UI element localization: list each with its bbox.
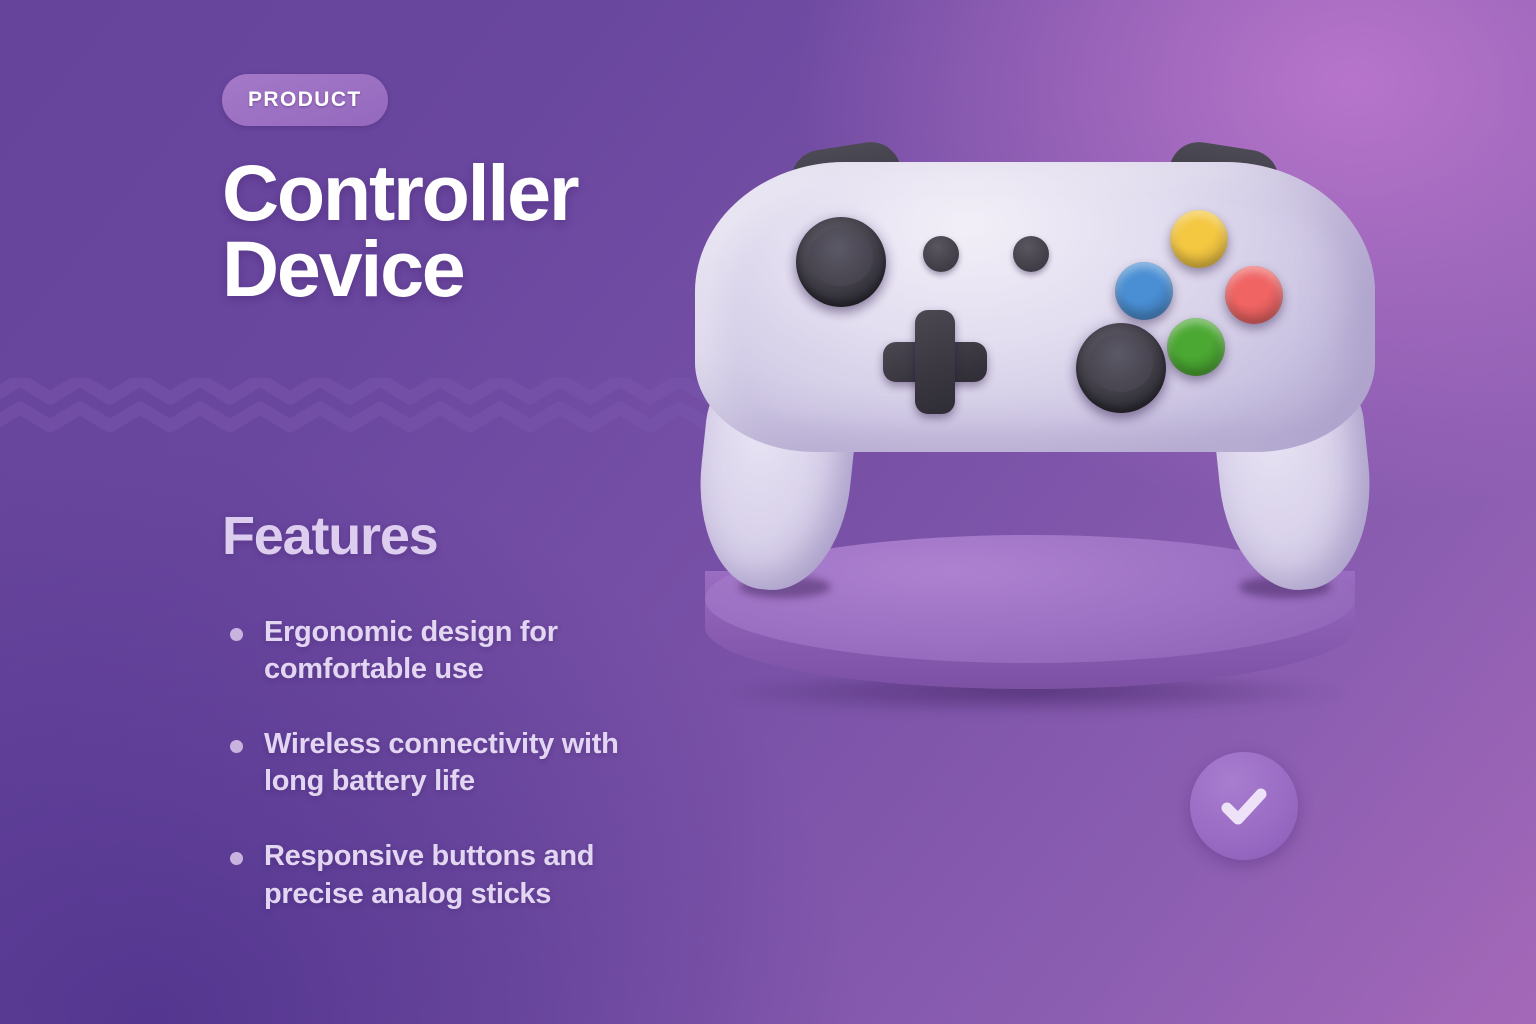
product-showcase-canvas: PRODUCT Controller Device Features Ergon… xyxy=(0,0,1536,1024)
left-analog-stick xyxy=(783,204,899,320)
page-title-line-2: Device xyxy=(222,231,682,307)
dpad-control xyxy=(883,310,987,414)
right-analog-stick-dish xyxy=(1089,334,1153,392)
left-analog-stick-dish xyxy=(809,228,873,286)
red-face-button xyxy=(1225,266,1283,324)
product-image-scene xyxy=(660,100,1420,740)
start-button xyxy=(1013,236,1049,272)
green-face-button xyxy=(1167,318,1225,376)
list-item: Wireless connectivity with long battery … xyxy=(222,726,672,800)
page-title: Controller Device xyxy=(222,155,682,307)
check-circle-icon xyxy=(1190,752,1298,860)
dpad-vertical-arm xyxy=(915,310,955,414)
select-button xyxy=(923,236,959,272)
left-analog-stick-cap xyxy=(796,217,886,307)
product-category-badge: PRODUCT xyxy=(222,74,388,126)
text-column: PRODUCT Controller Device Features Ergon… xyxy=(222,0,692,1024)
game-controller-illustration xyxy=(695,128,1375,598)
right-analog-stick xyxy=(1063,310,1179,426)
list-item: Ergonomic design for comfortable use xyxy=(222,614,672,688)
right-analog-stick-cap xyxy=(1076,323,1166,413)
product-category-badge-label: PRODUCT xyxy=(248,88,362,112)
features-list: Ergonomic design for comfortable use Wir… xyxy=(222,614,672,951)
list-item: Responsive buttons and precise analog st… xyxy=(222,838,672,912)
features-heading: Features xyxy=(222,505,438,567)
blue-face-button xyxy=(1115,262,1173,320)
yellow-face-button xyxy=(1170,210,1228,268)
